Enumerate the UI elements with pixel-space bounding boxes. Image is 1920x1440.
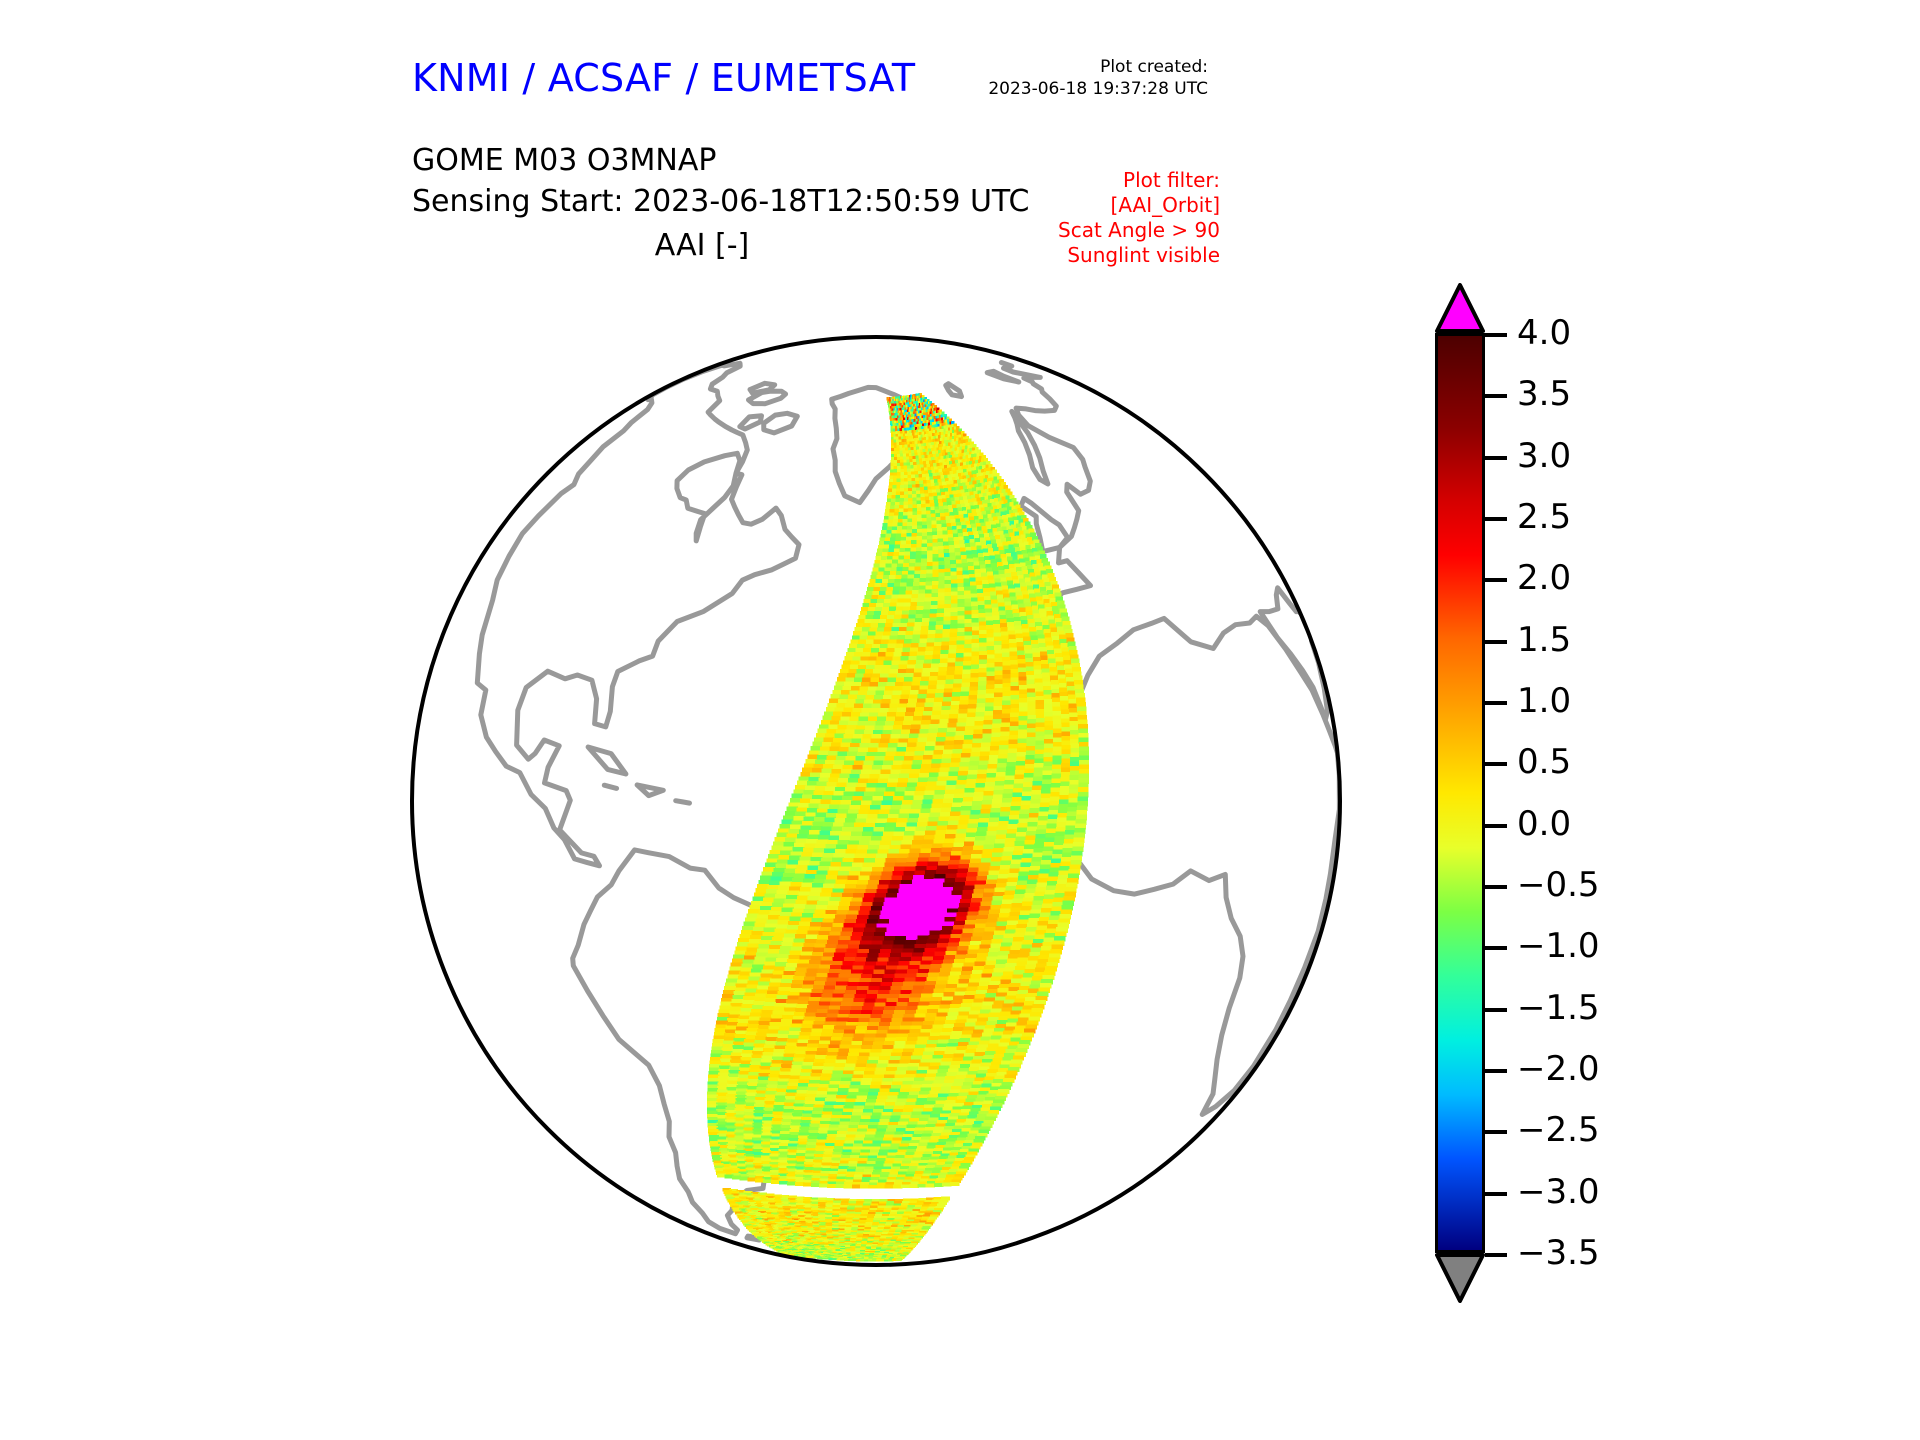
plot-filter-block: Plot filter: [AAI_Orbit] Scat Angle > 90…: [1058, 168, 1220, 268]
colorbar-tick-label: 1.0: [1517, 684, 1571, 718]
colorbar-tick-label: 3.5: [1517, 377, 1571, 411]
plot-created-block: Plot created: 2023-06-18 19:37:28 UTC: [988, 56, 1208, 100]
colorbar-tick: [1485, 701, 1507, 705]
colorbar-under-arrow: [1435, 1253, 1485, 1303]
plot-created-timestamp: 2023-06-18 19:37:28 UTC: [988, 78, 1208, 100]
colorbar-gradient: [1435, 333, 1485, 1253]
title-block: GOME M03 O3MNAP Sensing Start: 2023-06-1…: [412, 140, 1029, 222]
colorbar: 4.03.53.02.52.01.51.00.50.0−0.5−1.0−1.5−…: [1425, 283, 1845, 1303]
colorbar-tick: [1485, 578, 1507, 582]
globe-map: [408, 333, 1344, 1269]
colorbar-tick: [1485, 946, 1507, 950]
colorbar-tick-label: 0.5: [1517, 745, 1571, 779]
colorbar-tick: [1485, 1069, 1507, 1073]
colorbar-tick-label: 4.0: [1517, 316, 1571, 350]
product-title: GOME M03 O3MNAP: [412, 140, 1029, 181]
colorbar-tick-label: −3.5: [1517, 1236, 1600, 1270]
colorbar-tick: [1485, 333, 1507, 337]
colorbar-over-arrow: [1435, 283, 1485, 333]
colorbar-tick: [1485, 762, 1507, 766]
colorbar-tick-label: 3.0: [1517, 439, 1571, 473]
colorbar-tick: [1485, 885, 1507, 889]
colorbar-tick-label: 1.5: [1517, 623, 1571, 657]
sensing-start: Sensing Start: 2023-06-18T12:50:59 UTC: [412, 181, 1029, 222]
colorbar-tick-label: −1.5: [1517, 991, 1600, 1025]
plot-filter-sunglint: Sunglint visible: [1058, 243, 1220, 268]
colorbar-tick: [1485, 394, 1507, 398]
quantity-label: AAI [-]: [412, 228, 992, 263]
colorbar-tick: [1485, 1253, 1507, 1257]
plot-filter-label: Plot filter:: [1058, 168, 1220, 193]
colorbar-tick: [1485, 1008, 1507, 1012]
colorbar-tick-label: −1.0: [1517, 929, 1600, 963]
plot-filter-condition: Scat Angle > 90: [1058, 218, 1220, 243]
colorbar-tick: [1485, 824, 1507, 828]
plot-filter-name: [AAI_Orbit]: [1058, 193, 1220, 218]
plot-created-label: Plot created:: [988, 56, 1208, 78]
organisation-title: KNMI / ACSAF / EUMETSAT: [412, 56, 915, 100]
colorbar-tick: [1485, 640, 1507, 644]
colorbar-tick-label: −3.0: [1517, 1175, 1600, 1209]
colorbar-tick-label: −2.0: [1517, 1052, 1600, 1086]
coastline-path: [604, 785, 616, 788]
colorbar-tick: [1485, 456, 1507, 460]
colorbar-tick: [1485, 517, 1507, 521]
colorbar-tick: [1485, 1130, 1507, 1134]
colorbar-tick-label: 2.5: [1517, 500, 1571, 534]
colorbar-tick-label: 2.0: [1517, 561, 1571, 595]
colorbar-tick-label: 0.0: [1517, 807, 1571, 841]
colorbar-tick: [1485, 1192, 1507, 1196]
colorbar-tick-label: −2.5: [1517, 1113, 1600, 1147]
colorbar-tick-label: −0.5: [1517, 868, 1600, 902]
coastline-path: [676, 801, 690, 803]
